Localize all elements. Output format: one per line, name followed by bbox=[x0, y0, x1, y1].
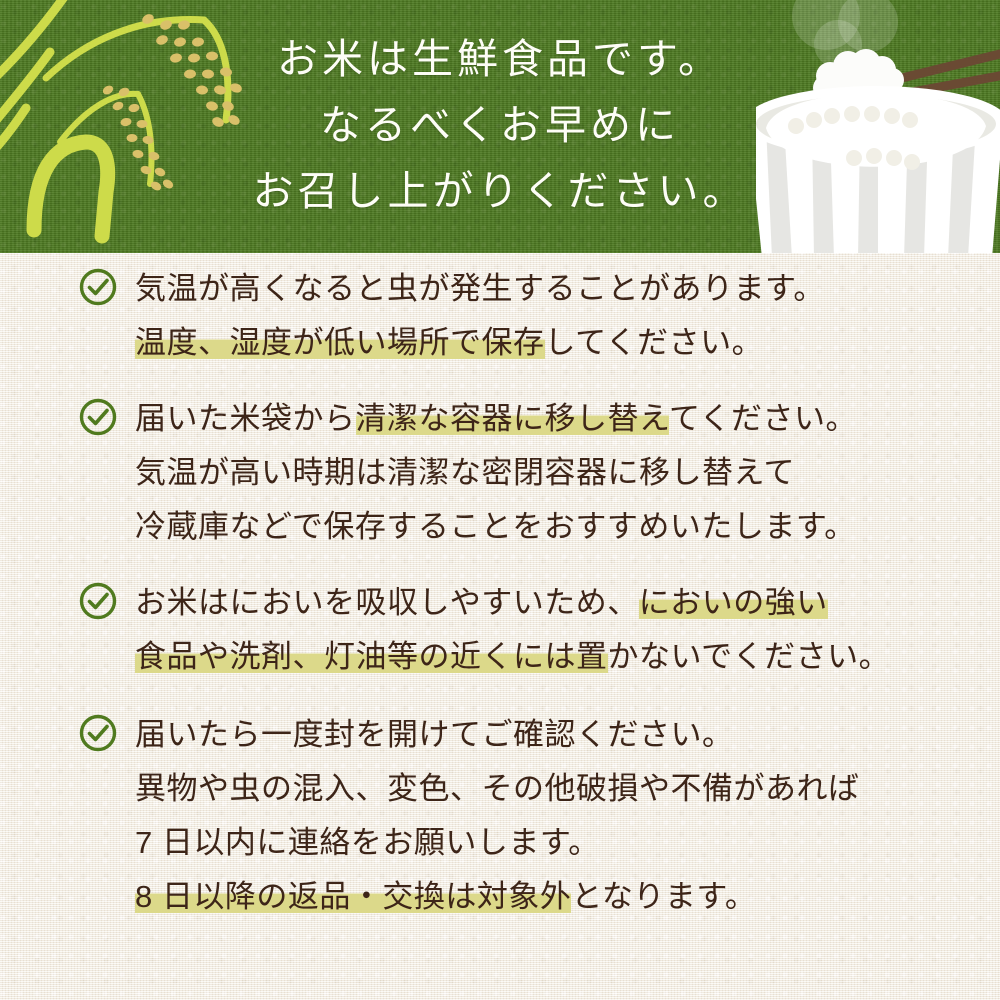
notice-span: 届いた米袋から bbox=[135, 401, 356, 436]
notice-line: 食品や洗剤、灯油等の近くには置かないでください。 bbox=[135, 630, 1000, 684]
check-circle-icon bbox=[78, 267, 118, 307]
notice-list: 気温が高くなると虫が発生することがあります。 温度、湿度が低い場所で保存してくだ… bbox=[0, 262, 1000, 942]
check-circle-icon bbox=[78, 581, 118, 621]
notice-item: 届いたら一度封を開けてご確認ください。 異物や虫の混入、変色、その他破損や不備が… bbox=[0, 708, 1000, 924]
notice-line: 気温が高くなると虫が発生することがあります。 bbox=[135, 262, 1000, 316]
notice-span-highlighted: 清潔な容器に移し替え bbox=[356, 401, 669, 436]
notice-span: てください。 bbox=[669, 401, 857, 436]
notice-item: 気温が高くなると虫が発生することがあります。 温度、湿度が低い場所で保存してくだ… bbox=[0, 262, 1000, 370]
rice-plant-icon bbox=[0, 0, 250, 253]
notice-span-highlighted: 食品や洗剤、灯油等の近くには置 bbox=[135, 639, 608, 674]
notice-line: お米はにおいを吸収しやすいため、においの強い bbox=[135, 576, 1000, 630]
notice-span: 冷蔵庫などで保存することをおすすめいたします。 bbox=[135, 509, 856, 544]
check-circle-icon bbox=[78, 713, 118, 753]
notice-line: 気温が高い時期は清潔な密閉容器に移し替えて bbox=[135, 446, 1000, 500]
notice-text: 気温が高くなると虫が発生することがあります。 温度、湿度が低い場所で保存してくだ… bbox=[135, 262, 1000, 370]
notice-line: 冷蔵庫などで保存することをおすすめいたします。 bbox=[135, 500, 1000, 554]
check-circle-icon bbox=[78, 397, 118, 437]
notice-item: 届いた米袋から清潔な容器に移し替えてください。 気温が高い時期は清潔な密閉容器に… bbox=[0, 392, 1000, 554]
notice-span: 気温が高い時期は清潔な密閉容器に移し替えて bbox=[135, 455, 795, 490]
notice-line: 届いた米袋から清潔な容器に移し替えてください。 bbox=[135, 392, 1000, 446]
notice-span: お米はにおいを吸収しやすいため、 bbox=[135, 585, 639, 620]
notice-span: となります。 bbox=[571, 879, 756, 914]
notice-span-highlighted: においの強い bbox=[639, 585, 828, 620]
notice-line: 届いたら一度封を開けてご確認ください。 bbox=[135, 708, 1000, 762]
notice-text: 届いたら一度封を開けてご確認ください。 異物や虫の混入、変色、その他破損や不備が… bbox=[135, 708, 1000, 924]
notice-span: 届いたら一度封を開けてご確認ください。 bbox=[135, 717, 734, 752]
notice-text: お米はにおいを吸収しやすいため、においの強い 食品や洗剤、灯油等の近くには置かな… bbox=[135, 576, 1000, 684]
notice-span-highlighted: 8 日以降の返品・交換は対象外 bbox=[135, 879, 571, 914]
notice-span: かないでください。 bbox=[608, 639, 891, 674]
notice-line: 異物や虫の混入、変色、その他破損や不備があれば bbox=[135, 762, 1000, 816]
notice-span: してください。 bbox=[545, 325, 764, 360]
rice-bowl-icon bbox=[756, 0, 1000, 253]
notice-text: 届いた米袋から清潔な容器に移し替えてください。 気温が高い時期は清潔な密閉容器に… bbox=[135, 392, 1000, 554]
notice-line: 8 日以降の返品・交換は対象外となります。 bbox=[135, 870, 1000, 924]
notice-span: 7 日以内に連絡をお願いします。 bbox=[135, 825, 600, 860]
notice-span: 気温が高くなると虫が発生することがあります。 bbox=[135, 271, 825, 306]
notice-line: 温度、湿度が低い場所で保存してください。 bbox=[135, 316, 1000, 370]
header-banner: お米は生鮮食品です。 なるべくお早めに お召し上がりください。 bbox=[0, 0, 1000, 253]
notice-span: 異物や虫の混入、変色、その他破損や不備があれば bbox=[135, 771, 860, 806]
notice-line: 7 日以内に連絡をお願いします。 bbox=[135, 816, 1000, 870]
notice-span-highlighted: 温度、湿度が低い場所で保存 bbox=[135, 325, 545, 360]
notice-item: お米はにおいを吸収しやすいため、においの強い 食品や洗剤、灯油等の近くには置かな… bbox=[0, 576, 1000, 684]
